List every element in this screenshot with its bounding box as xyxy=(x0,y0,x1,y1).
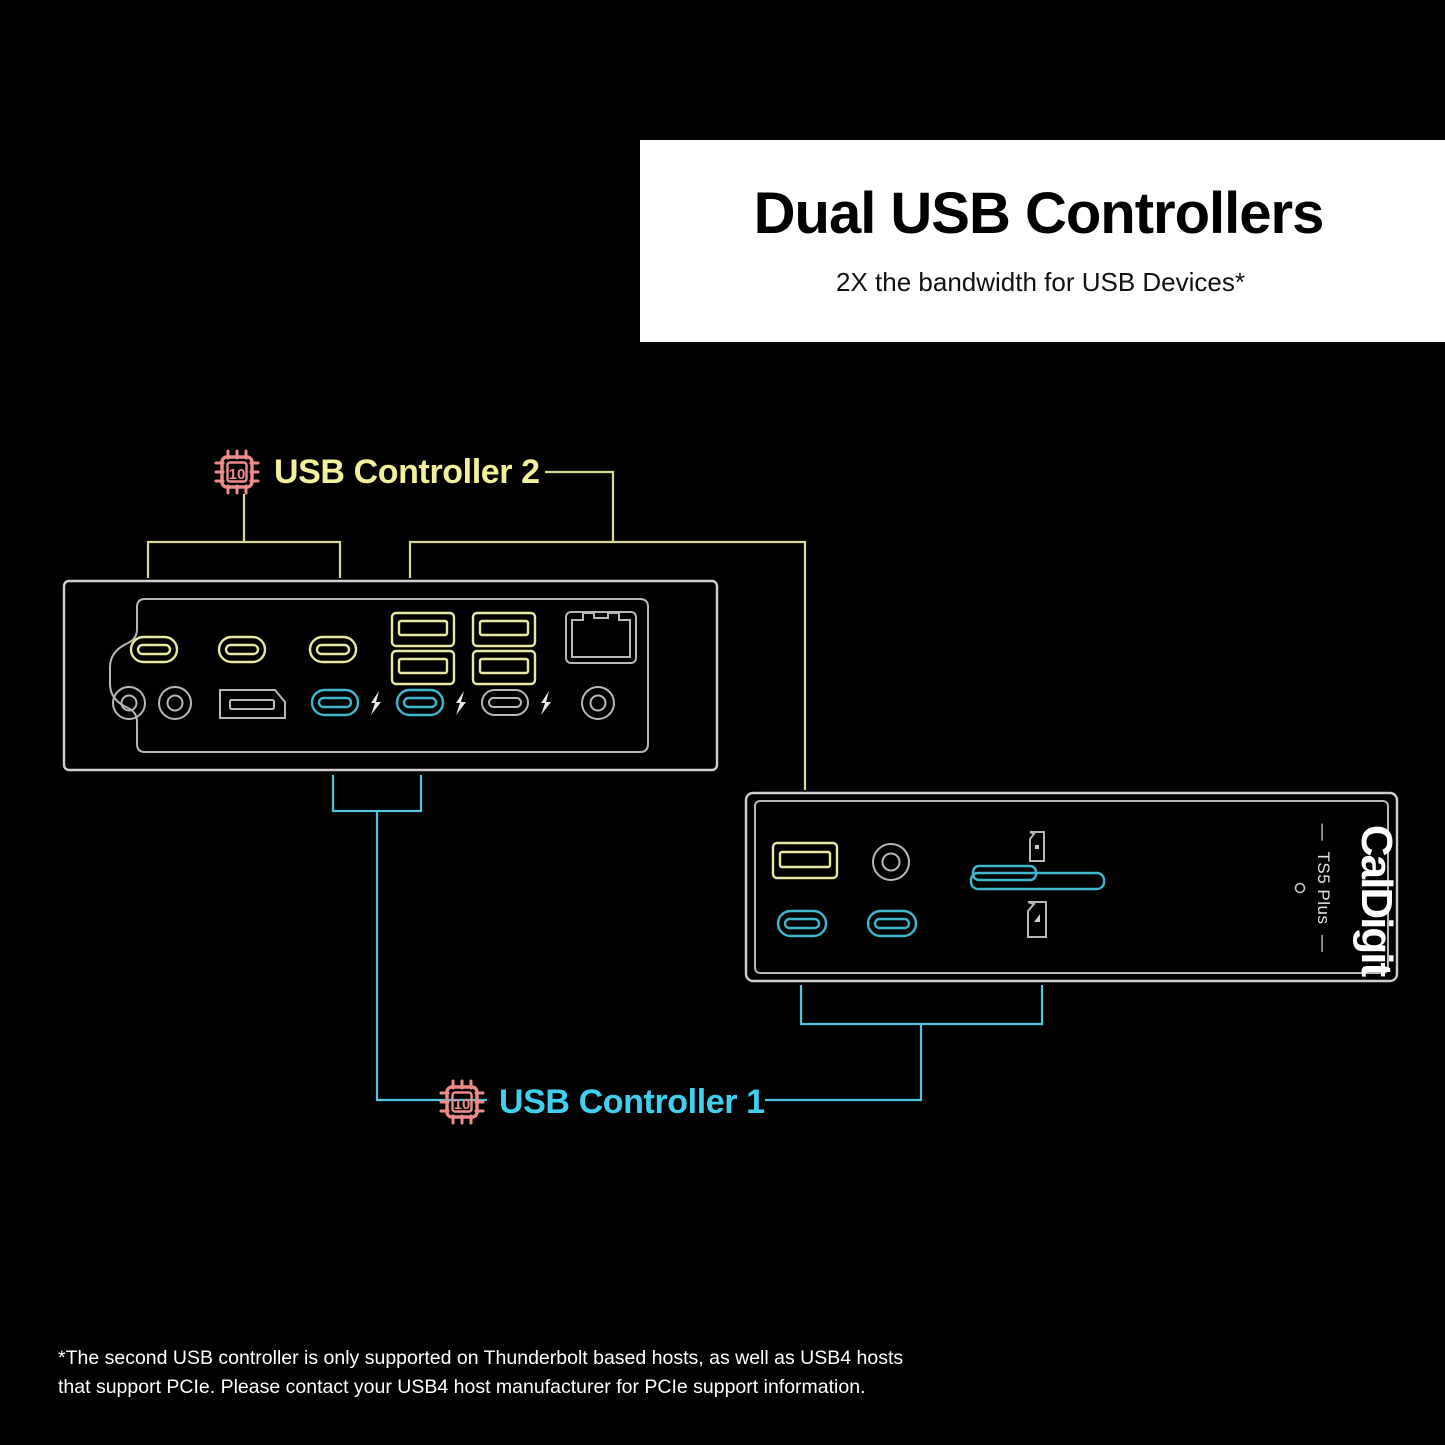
label-usb-controller-1: 10 USB Controller 1 xyxy=(438,1078,765,1126)
rear-thunderbolt-usb-c-1 xyxy=(312,690,358,715)
rear-panel xyxy=(64,581,717,770)
front-usb-a xyxy=(773,843,837,878)
rear-thunderbolt-usb-c-2 xyxy=(397,690,443,715)
chip-icon: 10 xyxy=(213,448,261,496)
chip-badge-value: 10 xyxy=(229,466,246,483)
footnote: *The second USB controller is only suppo… xyxy=(58,1344,1018,1403)
footnote-line-2: that support PCIe. Please contact your U… xyxy=(58,1373,1018,1402)
rear-audio-jack-1 xyxy=(113,687,145,719)
front-panel: CalDigit — TS5 Plus — xyxy=(746,793,1401,981)
model-name: — TS5 Plus — xyxy=(1314,824,1333,953)
rear-thunderbolt-icon-2 xyxy=(456,691,466,715)
front-usb-c-1 xyxy=(778,911,826,936)
diagram-graphics: .ylw { stroke:#e8e8a0; fill:none; stroke… xyxy=(0,0,1445,1445)
rear-usb-c-3 xyxy=(310,637,356,662)
rear-usb-a-3 xyxy=(473,613,535,646)
rear-thunderbolt-icon-1 xyxy=(371,691,381,715)
rear-usb-c-1 xyxy=(131,637,177,662)
front-audio-jack xyxy=(873,844,909,880)
sd-card-icon xyxy=(1028,902,1046,937)
rear-thunderbolt-usb-c-3 xyxy=(482,690,528,715)
chip-badge-value: 10 xyxy=(454,1096,471,1113)
diagram-canvas: Dual USB Controllers 2X the bandwidth fo… xyxy=(0,0,1445,1445)
label-usb-controller-2: 10 USB Controller 2 xyxy=(213,448,540,496)
rear-audio-jack-3 xyxy=(582,687,614,719)
front-brand-block: CalDigit xyxy=(1352,825,1401,978)
brand-caldigit: CalDigit xyxy=(1352,825,1401,978)
controller-1-label: USB Controller 1 xyxy=(499,1083,765,1122)
footnote-line-1: *The second USB controller is only suppo… xyxy=(58,1344,1018,1373)
rear-thunderbolt-icon-3 xyxy=(541,691,551,715)
controller-2-label: USB Controller 2 xyxy=(274,453,540,492)
rear-displayport xyxy=(220,690,285,718)
rear-ethernet-icon xyxy=(566,612,636,663)
rear-usb-c-2 xyxy=(219,637,265,662)
wire-group-controller-2 xyxy=(148,472,805,790)
microsd-card-icon xyxy=(1030,832,1044,861)
front-usb-c-2 xyxy=(868,911,916,936)
chip-icon: 10 xyxy=(438,1078,486,1126)
front-model-block: — TS5 Plus — xyxy=(1314,824,1333,953)
rear-usb-a-4 xyxy=(473,651,535,684)
front-led-indicator xyxy=(1296,884,1305,893)
rear-usb-a-1 xyxy=(392,613,454,646)
wire-group-controller-1 xyxy=(333,775,1042,1100)
rear-audio-jack-2 xyxy=(159,687,191,719)
rear-usb-a-2 xyxy=(392,651,454,684)
